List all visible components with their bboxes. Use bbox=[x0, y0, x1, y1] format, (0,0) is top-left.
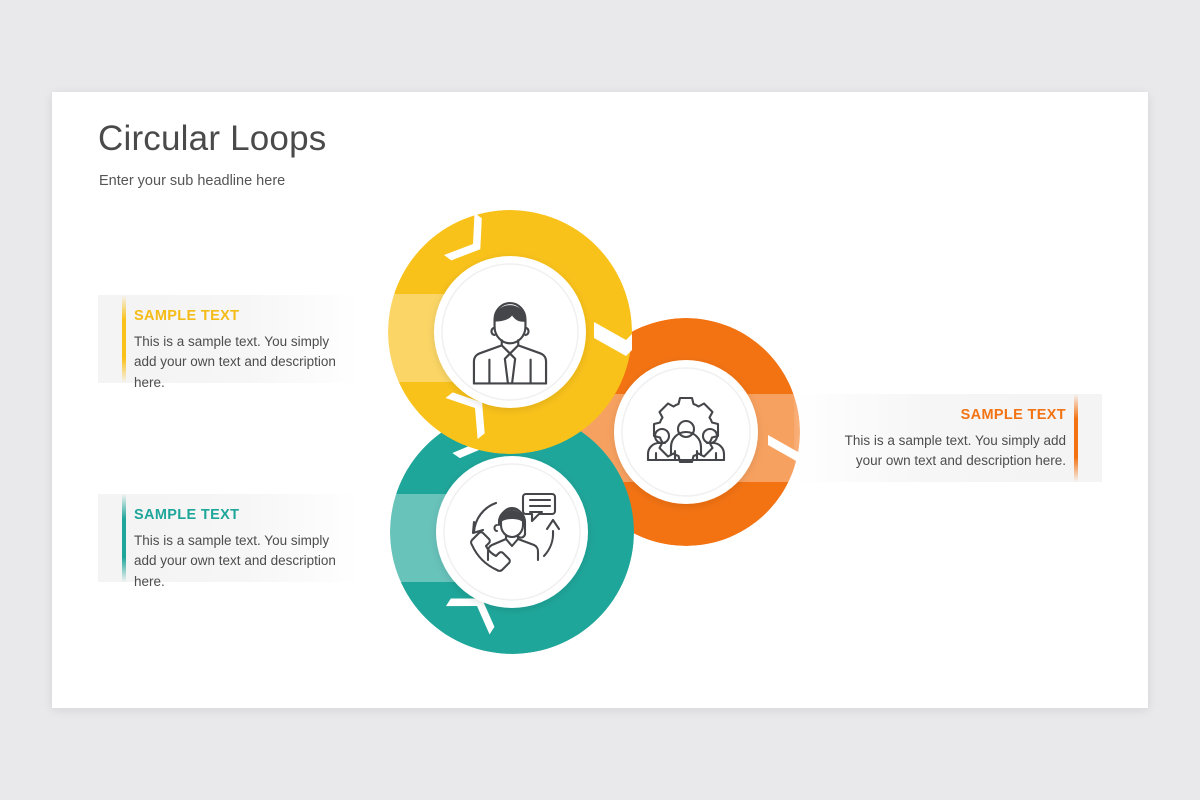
card-orange[interactable]: SAMPLE TEXT This is a sample text. You s… bbox=[794, 394, 1102, 482]
card-yellow-body: This is a sample text. You simply add yo… bbox=[134, 332, 336, 394]
card-teal-heading: SAMPLE TEXT bbox=[134, 508, 336, 524]
card-yellow-accent-bar bbox=[122, 295, 126, 383]
slide-canvas: Circular Loops Enter your sub headline h… bbox=[52, 92, 1148, 708]
card-yellow-heading: SAMPLE TEXT bbox=[134, 309, 336, 325]
page-subtitle: Enter your sub headline here bbox=[99, 173, 285, 189]
card-orange-accent-bar bbox=[1074, 394, 1078, 482]
page-title: Circular Loops bbox=[98, 119, 326, 159]
card-yellow[interactable]: SAMPLE TEXT This is a sample text. You s… bbox=[98, 295, 358, 383]
card-teal[interactable]: SAMPLE TEXT This is a sample text. You s… bbox=[98, 494, 358, 582]
circular-loops-diagram bbox=[380, 202, 830, 682]
card-teal-accent-bar bbox=[122, 494, 126, 582]
businessman-disc[interactable] bbox=[434, 256, 586, 408]
card-teal-body: This is a sample text. You simply add yo… bbox=[134, 531, 336, 593]
card-orange-body: This is a sample text. You simply add yo… bbox=[826, 431, 1066, 472]
team-gear-disc[interactable] bbox=[614, 360, 758, 504]
card-orange-heading: SAMPLE TEXT bbox=[816, 408, 1066, 424]
support-disc[interactable] bbox=[436, 456, 588, 608]
